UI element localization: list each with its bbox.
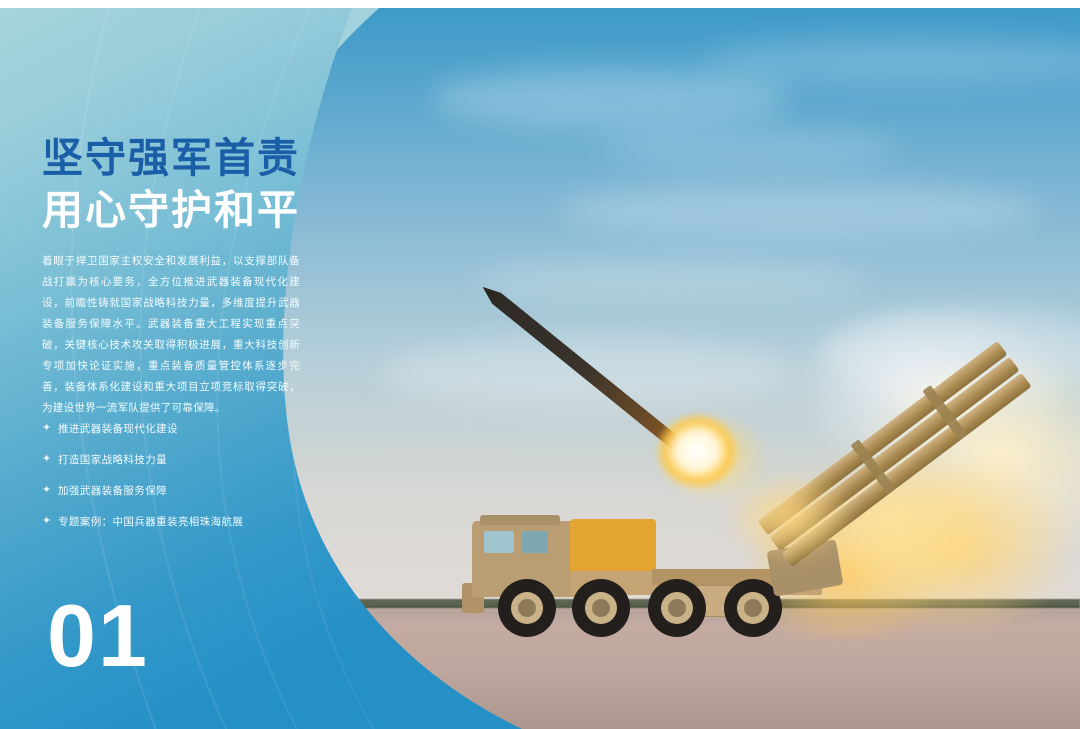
title-line-1: 坚守强军首责 [42,133,342,183]
sparkle-icon: ✦ [42,454,58,465]
bullet-list: ✦ 推进武器装备现代化建设 ✦ 打造国家战略科技力量 ✦ 加强武器装备服务保障 … [42,415,342,539]
cloud [560,183,1040,237]
cloud [470,258,870,302]
list-item-label: 加强武器装备服务保障 [58,483,167,498]
truck-side-window [522,531,548,553]
page-title: 坚守强军首责 用心守护和平 [42,133,342,235]
content-column: 坚守强军首责 用心守护和平 着眼于捍卫国家主权安全和发展利益，以支撑部队备战打赢… [0,8,360,729]
truck-wheel [572,579,630,637]
list-item-label: 推进武器装备现代化建设 [58,421,178,436]
truck-windshield [484,531,514,553]
intro-paragraph: 着眼于捍卫国家主权安全和发展利益，以支撑部队备战打赢为核心要务，全方位推进武器装… [42,251,300,419]
launch-fireball [618,376,798,526]
list-item[interactable]: ✦ 专题案例：中国兵器重装亮相珠海航展 [42,508,342,534]
sparkle-icon: ✦ [42,485,58,496]
list-item-label: 专题案例：中国兵器重装亮相珠海航展 [58,514,243,529]
list-item-label: 打造国家战略科技力量 [58,452,167,467]
truck-wheel [648,579,706,637]
title-line-2: 用心守护和平 [42,185,342,235]
list-item[interactable]: ✦ 加强武器装备服务保障 [42,477,342,503]
sparkle-icon: ✦ [42,423,58,434]
sparkle-icon: ✦ [42,516,58,527]
cloud [430,68,790,128]
poster-page: 坚守强军首责 用心守护和平 着眼于捍卫国家主权安全和发展利益，以支撑部队备战打赢… [0,0,1080,729]
cloud [600,128,900,168]
section-number: 01 [47,592,149,680]
list-item[interactable]: ✦ 打造国家战略科技力量 [42,446,342,472]
truck-wheel [498,579,556,637]
truck-hood [570,519,656,575]
truck-cab-roof [480,515,560,525]
list-item[interactable]: ✦ 推进武器装备现代化建设 [42,415,342,441]
